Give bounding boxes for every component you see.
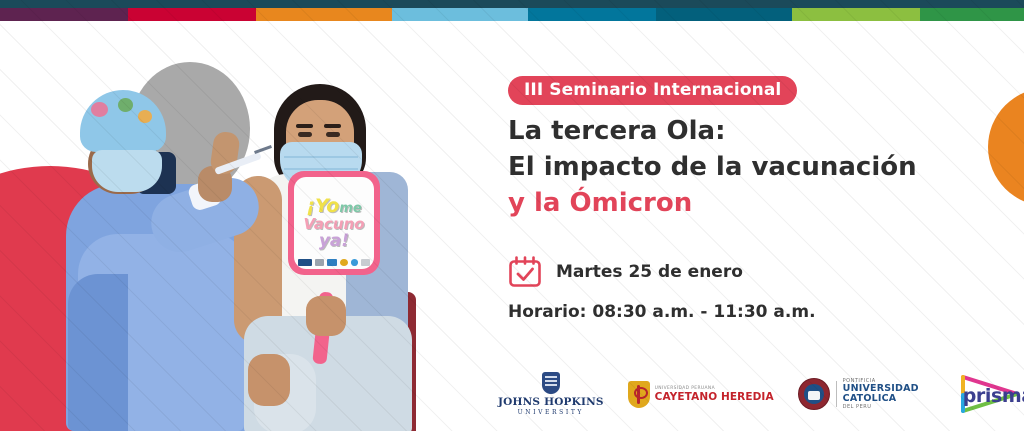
- pucp-text: PONTIFICIA UNIVERSIDAD CATOLICA DEL PERU: [843, 378, 919, 411]
- sign-logo-3: [327, 259, 337, 266]
- segment-teal: [528, 8, 656, 21]
- patient-mask-pleat-2: [284, 168, 358, 170]
- nurse-cap-pattern-3: [138, 110, 152, 123]
- nurse-face-mask: [92, 150, 162, 192]
- calendar-check-icon: [508, 256, 542, 288]
- segment-crimson: [128, 8, 256, 21]
- sign-line-2: Vacuno: [303, 217, 364, 232]
- segment-orange: [256, 8, 392, 21]
- vaccination-sign-face: ¡Yome Vacuno ya!: [294, 177, 374, 269]
- patient-eye-right: [326, 132, 340, 137]
- jhu-shield-icon: [542, 372, 560, 394]
- segment-lime: [792, 8, 920, 21]
- nurse-cap-pattern-2: [118, 98, 133, 112]
- sign-logo-4: [340, 259, 348, 266]
- jhu-name: JOHNS HOPKINS: [498, 396, 604, 408]
- pucp-divider: [836, 381, 837, 407]
- patient-eyebrow-right: [324, 124, 341, 128]
- syringe-needle: [254, 145, 272, 154]
- segment-purple: [0, 8, 128, 21]
- sign-logo-5: [351, 259, 359, 266]
- banner-root: ¡Yome Vacuno ya! III Seminario Internaci…: [0, 0, 1024, 431]
- title-line-2: El impacto de la vacunación: [508, 150, 988, 186]
- top-strip: [0, 0, 1024, 8]
- pucp-line-4: DEL PERU: [843, 404, 919, 410]
- patient-hand-holding-sign: [306, 296, 346, 336]
- sign-line-1b: me: [339, 201, 361, 216]
- pucp-line-3: CATOLICA: [843, 394, 919, 404]
- sign-line-1a: ¡Yo: [306, 195, 339, 217]
- sign-logo-usaid: [298, 259, 312, 266]
- patient-eye-left: [298, 132, 312, 137]
- patient-eyebrow-left: [296, 124, 313, 128]
- uch-shield-icon: [628, 381, 650, 408]
- sign-partner-logos: [298, 258, 370, 267]
- sign-line-3: ya!: [319, 233, 349, 250]
- hero-photo: ¡Yome Vacuno ya!: [58, 24, 458, 431]
- patient-mask-pleat-1: [284, 156, 358, 158]
- logo-johns-hopkins: JOHNS HOPKINS UNIVERSITY: [498, 372, 604, 416]
- top-color-bar: [0, 8, 1024, 21]
- uch-line-2: CAYETANO HEREDIA: [655, 391, 774, 403]
- logo-prisma: prisma: [949, 370, 960, 418]
- uch-text: UNIVERSIDAD PERUANA CAYETANO HEREDIA: [655, 386, 774, 403]
- sign-logo-2: [315, 259, 325, 266]
- event-date: Martes 25 de enero: [556, 262, 743, 282]
- page-title: La tercera Ola: El impacto de la vacunac…: [508, 114, 988, 222]
- event-time: Horario: 08:30 a.m. - 11:30 a.m.: [508, 302, 816, 322]
- jhu-subname: UNIVERSITY: [498, 409, 604, 416]
- sign-line-1: ¡Yome: [306, 197, 361, 216]
- seminar-badge: III Seminario Internacional: [508, 76, 797, 105]
- pucp-seal-icon: [798, 378, 830, 410]
- nurse-cap-pattern-1: [91, 102, 108, 117]
- logo-pucp: PONTIFICIA UNIVERSIDAD CATOLICA DEL PERU: [798, 378, 919, 411]
- segment-dark-teal: [656, 8, 792, 21]
- prisma-wordmark: prisma: [963, 385, 1024, 407]
- date-row: Martes 25 de enero: [508, 256, 743, 288]
- nurse-gown-shadow: [68, 274, 128, 431]
- title-line-1: La tercera Ola:: [508, 114, 988, 150]
- segment-light-blue: [392, 8, 528, 21]
- sign-logo-6: [361, 259, 370, 266]
- patient-hand-on-knee: [248, 354, 290, 406]
- segment-green: [920, 8, 1024, 21]
- title-line-3: y la Ómicron: [508, 186, 988, 222]
- logo-cayetano-heredia: UNIVERSIDAD PERUANA CAYETANO HEREDIA: [628, 381, 774, 408]
- partner-logos: JOHNS HOPKINS UNIVERSITY UNIVERSIDAD PER…: [490, 366, 960, 422]
